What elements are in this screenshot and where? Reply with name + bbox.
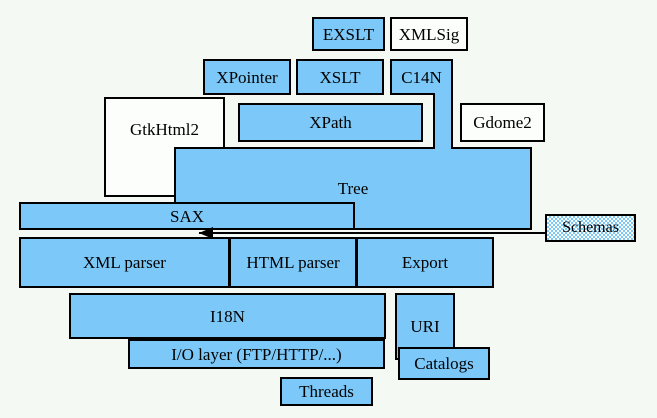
box-i18n[interactable]: I18N [69,293,386,339]
box-label: I/O layer (FTP/HTTP/...) [171,346,341,363]
box-export[interactable]: Export [356,237,494,288]
box-label: Export [402,254,448,271]
box-exslt[interactable]: EXSLT [312,17,385,51]
box-label: I18N [210,308,245,325]
box-xpath[interactable]: XPath [238,103,423,142]
box-label: GtkHtml2 [130,121,199,138]
box-label: SAX [170,208,204,225]
box-label: HTML parser [246,254,339,271]
box-xpointer[interactable]: XPointer [203,59,291,95]
box-label: C14N [401,69,442,86]
box-label: Schemas [562,220,619,236]
box-xslt[interactable]: XSLT [296,59,384,95]
box-label: XML parser [83,254,166,271]
box-label: Gdome2 [473,114,532,131]
box-label: XMLSig [399,26,459,43]
box-xml-parser[interactable]: XML parser [19,237,230,288]
box-gdome2[interactable]: Gdome2 [460,103,545,142]
box-html-parser[interactable]: HTML parser [229,237,357,288]
box-schemas[interactable]: Schemas [545,214,636,242]
box-label: XPointer [216,69,277,86]
libxml2-architecture-diagram: EXSLT XMLSig XPointer XSLT C14N GtkHtml2… [0,0,657,418]
connector-c14n-to-tree [433,93,453,151]
box-c14n[interactable]: C14N [390,59,453,95]
box-io-layer[interactable]: I/O layer (FTP/HTTP/...) [128,339,385,369]
connector-tree-seam [435,147,451,152]
box-sax[interactable]: SAX [19,202,355,230]
box-label: EXSLT [323,26,374,43]
box-label: Catalogs [414,355,474,372]
arrow-schemas-to-sax-line [199,232,545,234]
box-label: XPath [309,114,352,131]
box-threads[interactable]: Threads [280,377,373,406]
box-xmlsig[interactable]: XMLSig [390,17,468,51]
box-label: Tree [338,180,369,197]
box-label: Threads [299,383,354,400]
box-label: XSLT [320,69,361,86]
box-label: URI [410,318,439,335]
box-catalogs[interactable]: Catalogs [398,347,490,380]
